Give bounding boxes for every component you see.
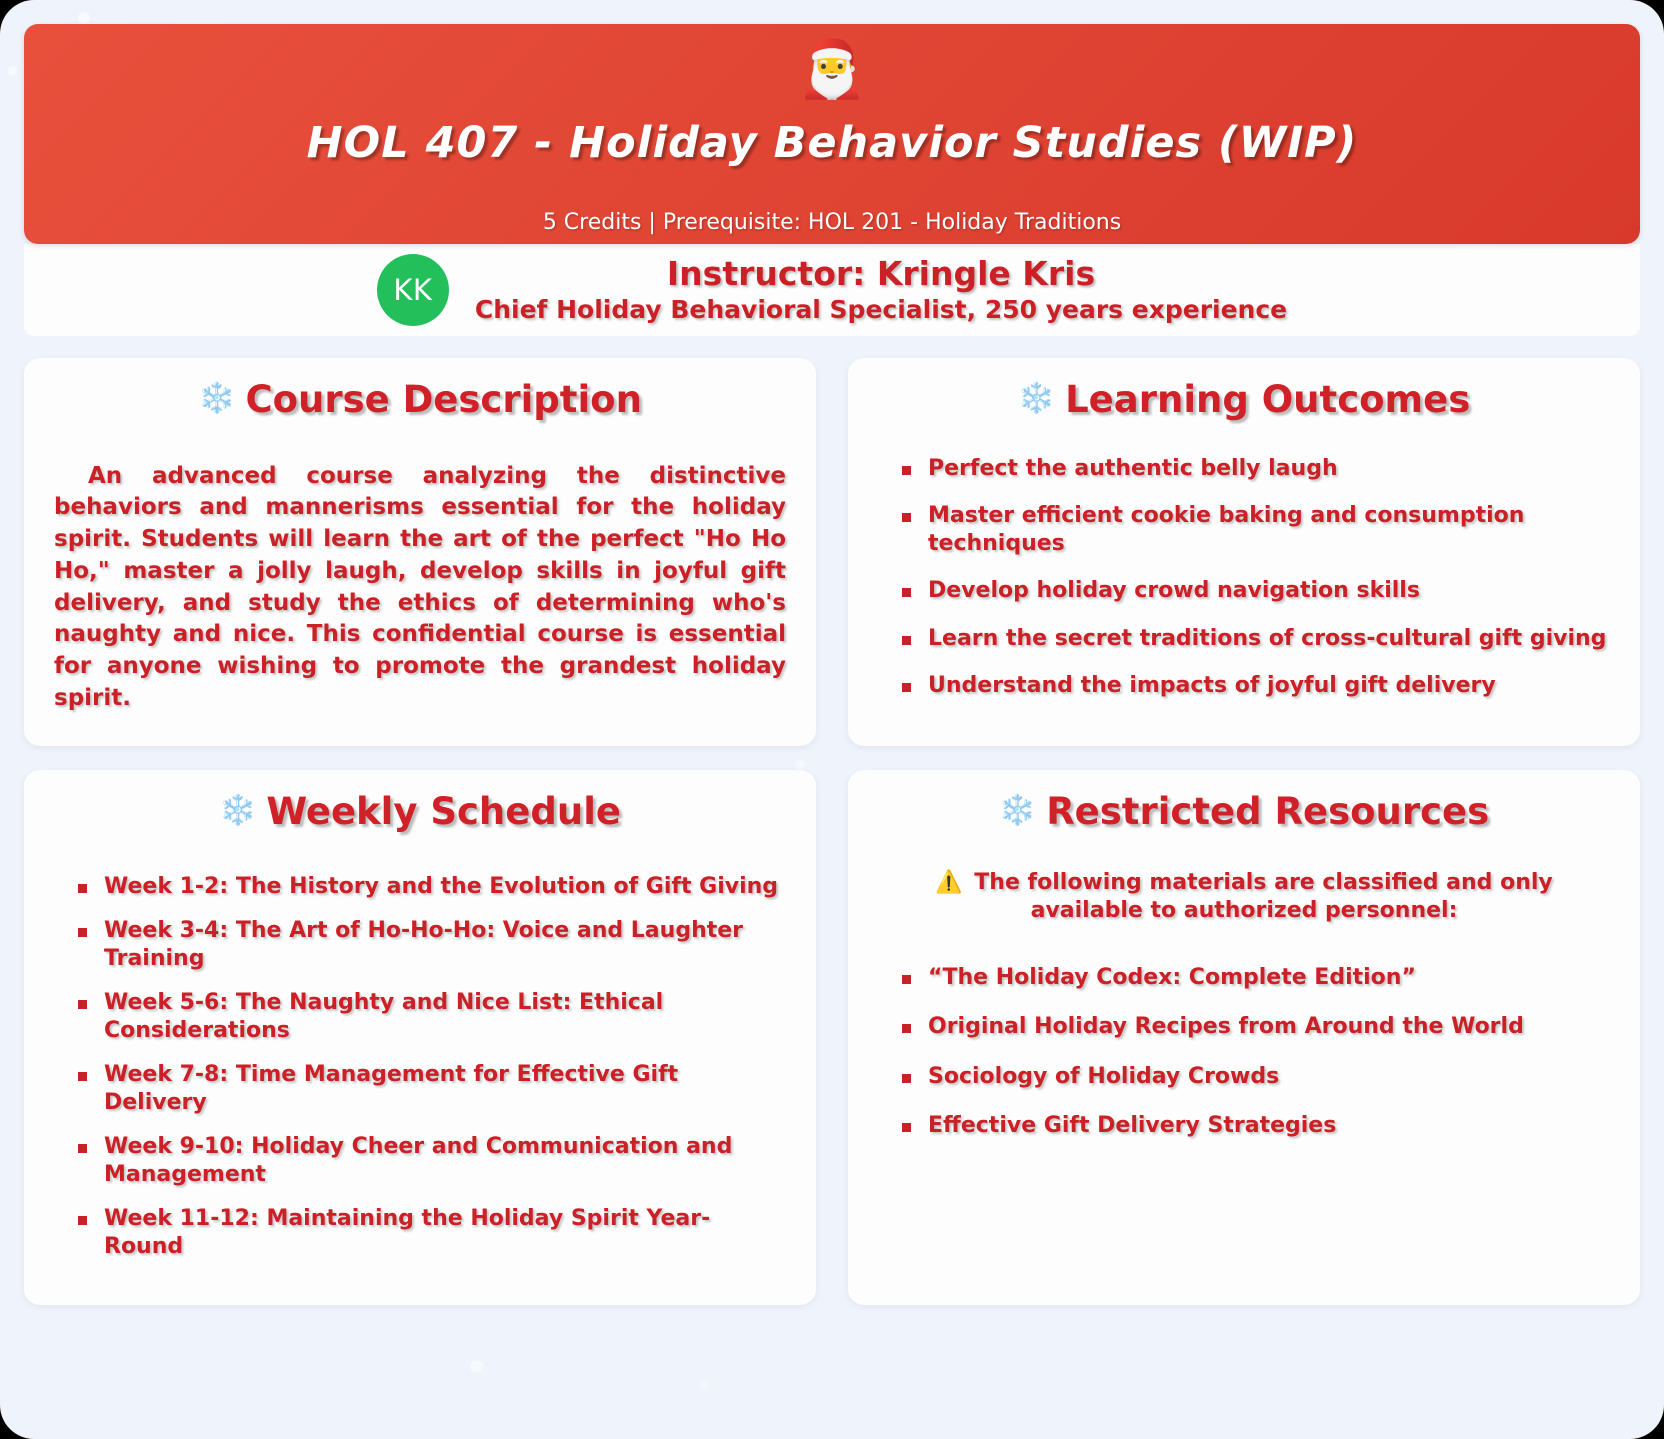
- instructor-name: Instructor: Kringle Kris: [475, 255, 1287, 293]
- screenshot-viewport: 🎅 HOL 407 - Holiday Behavior Studies (WI…: [0, 0, 1664, 1439]
- list-item: Week 3-4: The Art of Ho-Ho-Ho: Voice and…: [78, 917, 786, 972]
- santa-claus-emoji: 🎅: [44, 42, 1620, 104]
- syllabus-page: 🎅 HOL 407 - Holiday Behavior Studies (WI…: [0, 0, 1664, 1439]
- list-item: Master efficient cookie baking and consu…: [902, 502, 1610, 557]
- instructor-role: Chief Holiday Behavioral Specialist, 250…: [475, 295, 1287, 325]
- card-title-restricted-resources: ❄️Restricted Resources: [878, 792, 1610, 833]
- avatar: KK: [377, 254, 449, 326]
- card-title-learning-outcomes: ❄️Learning Outcomes: [878, 380, 1610, 421]
- week-label: Week 7-8:: [104, 1062, 228, 1087]
- page-content: 🎅 HOL 407 - Holiday Behavior Studies (WI…: [0, 0, 1664, 1305]
- week-topic: The History and the Evolution of Gift Gi…: [228, 874, 778, 899]
- course-header-banner: 🎅 HOL 407 - Holiday Behavior Studies (WI…: [24, 24, 1640, 244]
- page-title: HOL 407 - Holiday Behavior Studies (WIP): [44, 118, 1620, 168]
- card-title-text: Weekly Schedule: [266, 790, 621, 833]
- list-item: Perfect the authentic belly laugh: [902, 455, 1610, 483]
- week-label: Week 9-10:: [104, 1134, 243, 1159]
- instructor-bar: KK Instructor: Kringle Kris Chief Holida…: [24, 244, 1640, 336]
- list-item: Week 5-6: The Naughty and Nice List: Eth…: [78, 989, 786, 1044]
- list-item: Effective Gift Delivery Strategies: [902, 1112, 1610, 1140]
- snow-speck: [700, 1380, 709, 1389]
- list-item: Week 9-10: Holiday Cheer and Communicati…: [78, 1133, 786, 1188]
- week-label: Week 5-6:: [104, 990, 228, 1015]
- week-label: Week 11-12:: [104, 1206, 259, 1231]
- card-title-text: Learning Outcomes: [1065, 378, 1470, 421]
- warning-icon: ⚠️: [935, 870, 962, 895]
- snowflake-icon: ❄️: [219, 793, 256, 828]
- weekly-schedule-list: Week 1-2: The History and the Evolution …: [54, 873, 786, 1261]
- instructor-details: Instructor: Kringle Kris Chief Holiday B…: [475, 255, 1287, 325]
- restricted-resources-list: “The Holiday Codex: Complete Edition” Or…: [878, 964, 1610, 1140]
- list-item: “The Holiday Codex: Complete Edition”: [902, 964, 1610, 992]
- snowflake-icon: ❄️: [999, 793, 1036, 828]
- card-learning-outcomes: ❄️Learning Outcomes Perfect the authenti…: [848, 358, 1640, 746]
- course-description-text: An advanced course analyzing the distinc…: [54, 461, 786, 715]
- list-item: Learn the secret traditions of cross-cul…: [902, 625, 1610, 653]
- learning-outcomes-list: Perfect the authentic belly laugh Master…: [878, 455, 1610, 700]
- list-item: Week 7-8: Time Management for Effective …: [78, 1061, 786, 1116]
- list-item: Week 11-12: Maintaining the Holiday Spir…: [78, 1205, 786, 1260]
- card-title-text: Course Description: [245, 378, 641, 421]
- week-label: Week 3-4:: [104, 918, 228, 943]
- list-item: Week 1-2: The History and the Evolution …: [78, 873, 786, 901]
- card-restricted-resources: ❄️Restricted Resources ⚠️ The following …: [848, 770, 1640, 1305]
- list-item: Sociology of Holiday Crowds: [902, 1063, 1610, 1091]
- card-title-text: Restricted Resources: [1046, 790, 1489, 833]
- list-item: Develop holiday crowd navigation skills: [902, 577, 1610, 605]
- snow-speck: [470, 1360, 483, 1373]
- warning-text: The following materials are classified a…: [967, 870, 1553, 924]
- classified-warning-note: ⚠️ The following materials are classifie…: [878, 869, 1610, 926]
- list-item: Understand the impacts of joyful gift de…: [902, 672, 1610, 700]
- card-title-weekly-schedule: ❄️Weekly Schedule: [54, 792, 786, 833]
- syllabus-card-grid: ❄️Course Description An advanced course …: [24, 358, 1640, 1305]
- card-course-description: ❄️Course Description An advanced course …: [24, 358, 816, 746]
- list-item: Original Holiday Recipes from Around the…: [902, 1013, 1610, 1041]
- card-title-course-description: ❄️Course Description: [54, 380, 786, 421]
- course-credits-prerequisite: 5 Credits | Prerequisite: HOL 201 - Holi…: [44, 210, 1620, 235]
- snowflake-icon: ❄️: [1018, 381, 1055, 416]
- snowflake-icon: ❄️: [198, 381, 235, 416]
- card-weekly-schedule: ❄️Weekly Schedule Week 1-2: The History …: [24, 770, 816, 1305]
- week-label: Week 1-2:: [104, 874, 228, 899]
